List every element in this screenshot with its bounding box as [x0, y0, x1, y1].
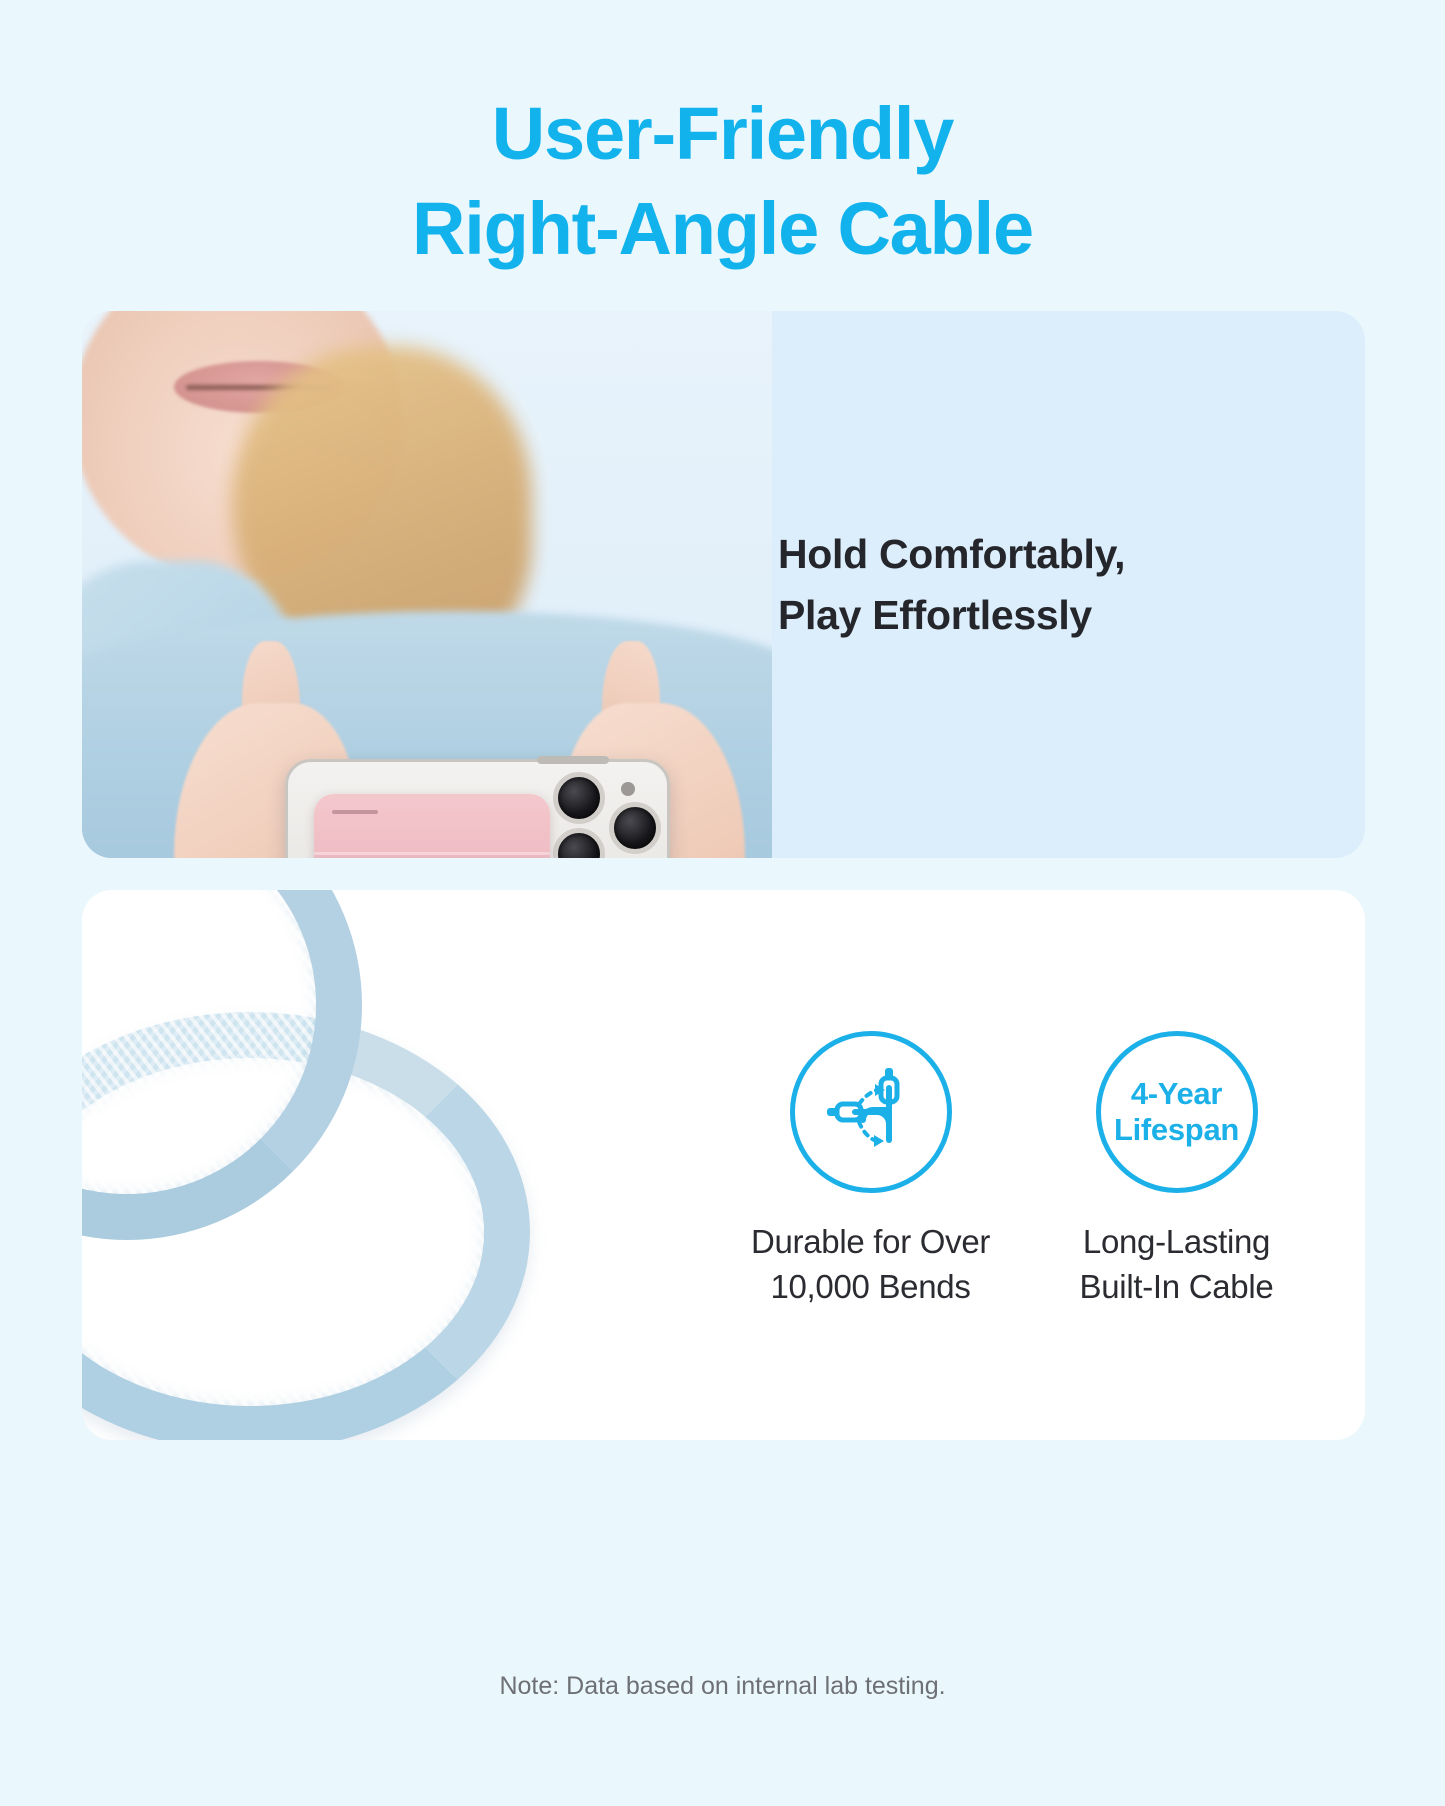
badge-circle — [790, 1031, 952, 1193]
lidar-sensor-icon — [621, 782, 635, 796]
feature-label: Long-Lasting Built-In Cable — [1043, 1219, 1311, 1309]
feature-item-lifespan: 4-Year Lifespan Long-Lasting Built-In Ca… — [1043, 1031, 1311, 1309]
feature-label-line-1: Durable for Over — [737, 1219, 1005, 1264]
power-bank: ANKER — [314, 794, 550, 858]
footnote: Note: Data based on internal lab testing… — [0, 1672, 1445, 1701]
feature-label-line-1: Long-Lasting — [1043, 1219, 1311, 1264]
hero-heading-line-1: Hold Comfortably, — [778, 524, 1125, 585]
camera-lens-icon — [553, 772, 605, 824]
camera-lens-icon — [553, 828, 605, 858]
right-angle-cable-bend-icon — [819, 1058, 923, 1167]
lifespan-badge-icon: 4-Year Lifespan — [1114, 1076, 1239, 1148]
feature-list: Durable for Over 10,000 Bends 4-Year Lif… — [682, 890, 1365, 1440]
hero-panel: ANKER Hold Comfortably, Play Effortlessl… — [82, 311, 1365, 858]
phone-device: ANKER — [285, 759, 670, 858]
feature-label: Durable for Over 10,000 Bends — [737, 1219, 1005, 1309]
power-bank-ridges — [314, 852, 550, 858]
badge-circle: 4-Year Lifespan — [1096, 1031, 1258, 1193]
badge-text-line-1: 4-Year — [1114, 1076, 1239, 1112]
cable-braid-texture — [82, 890, 316, 1194]
cable-photo — [82, 890, 722, 1440]
cable-features-panel: Durable for Over 10,000 Bends 4-Year Lif… — [82, 890, 1365, 1440]
power-bank-vent — [332, 810, 378, 814]
page-title: User-Friendly Right-Angle Cable — [0, 86, 1445, 276]
camera-cluster — [547, 776, 659, 858]
hero-photo: ANKER — [82, 311, 772, 858]
phone-side-rail — [537, 756, 609, 764]
camera-lens-icon — [609, 802, 661, 854]
badge-text-line-2: Lifespan — [1114, 1112, 1239, 1148]
hero-text-block: Hold Comfortably, Play Effortlessly — [772, 311, 1365, 858]
product-feature-page: User-Friendly Right-Angle Cable — [0, 0, 1445, 1806]
feature-label-line-2: 10,000 Bends — [737, 1264, 1005, 1309]
page-title-line-2: Right-Angle Cable — [0, 181, 1445, 276]
hero-heading-line-2: Play Effortlessly — [778, 585, 1125, 646]
feature-label-line-2: Built-In Cable — [1043, 1264, 1311, 1309]
page-title-line-1: User-Friendly — [492, 92, 953, 175]
feature-item-bends: Durable for Over 10,000 Bends — [737, 1031, 1005, 1309]
